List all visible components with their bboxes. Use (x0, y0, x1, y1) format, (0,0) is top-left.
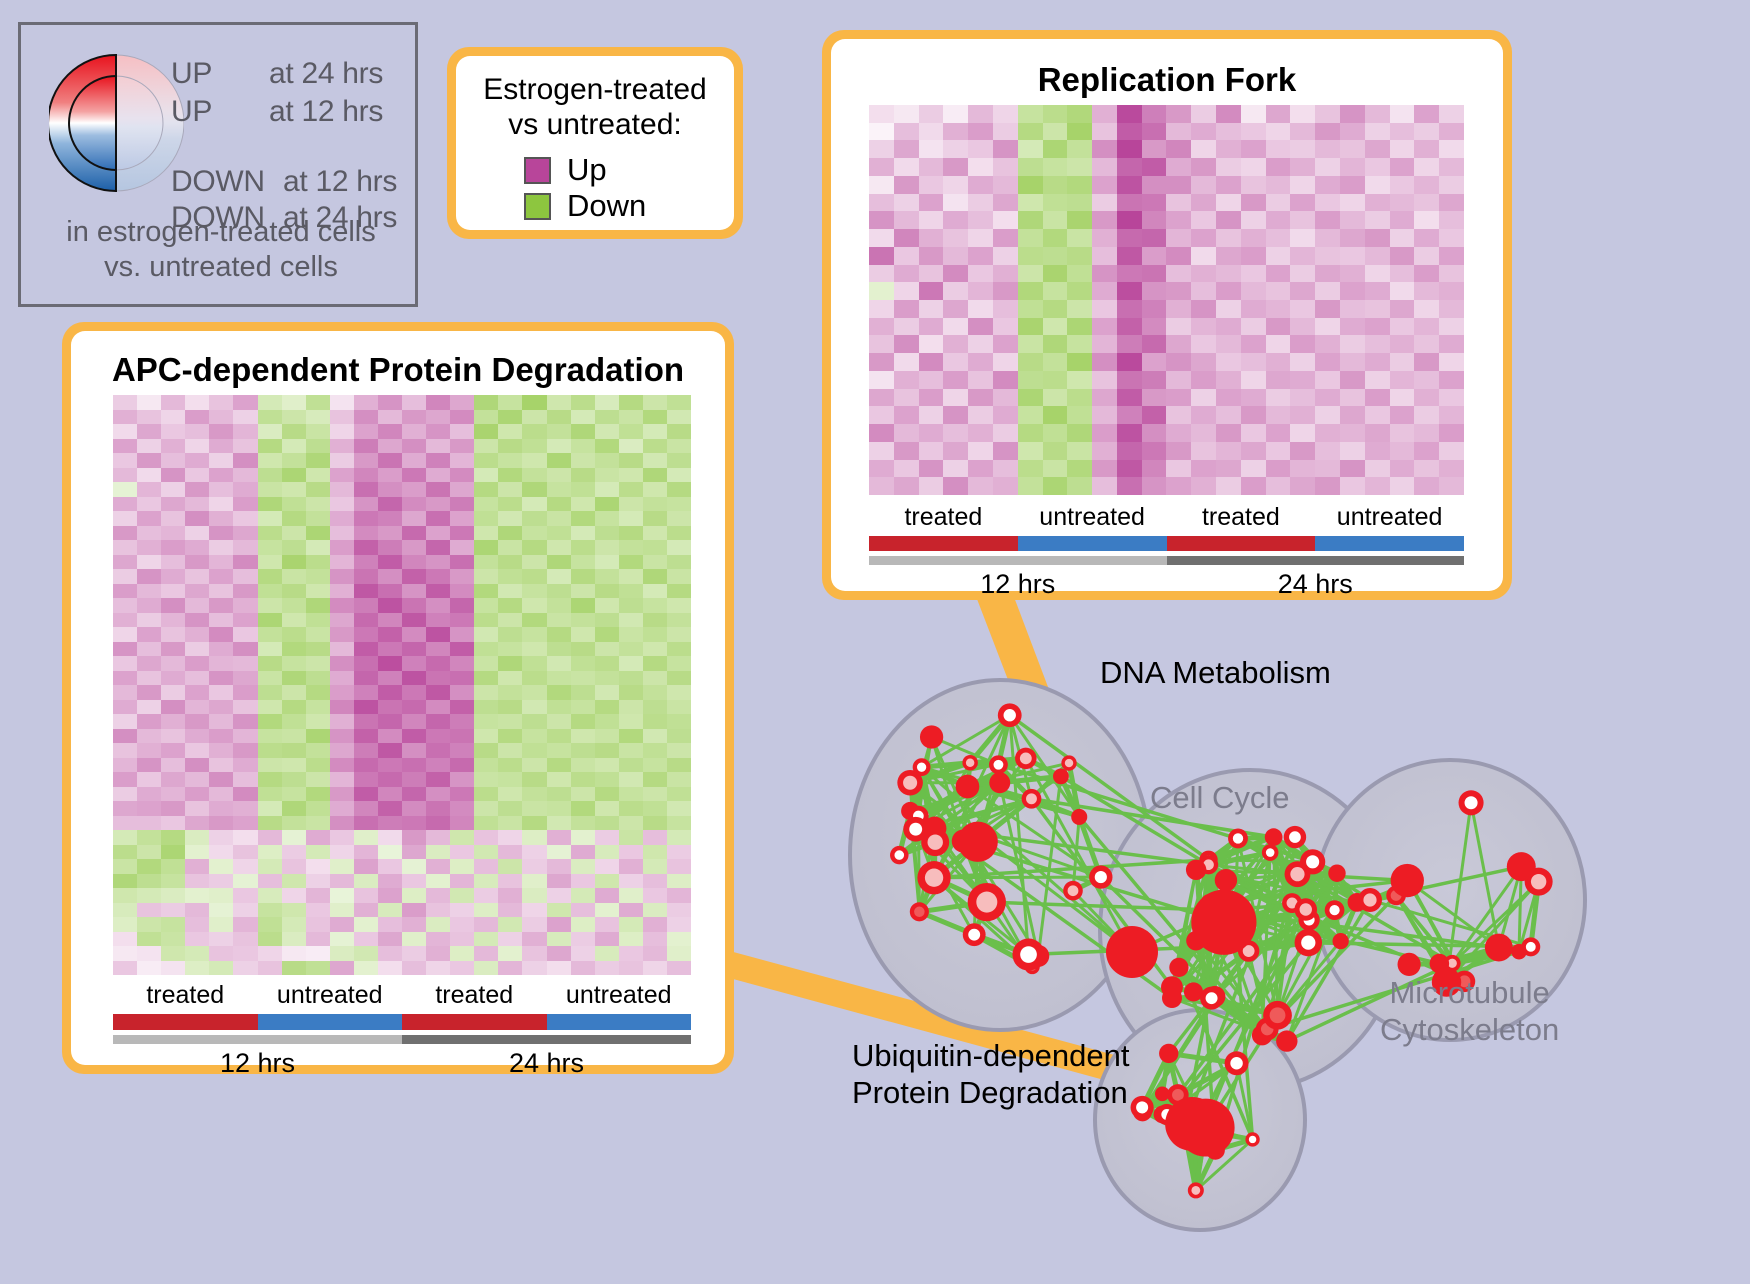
up-down-legend-panel: Estrogen-treated vs untreated: Up Down (447, 47, 743, 239)
heatmap-cell (1439, 158, 1464, 176)
heatmap-cell (233, 424, 257, 439)
heatmap-cell (1414, 424, 1439, 442)
network-node[interactable] (998, 703, 1022, 727)
heatmap-cell (450, 613, 474, 628)
heatmap-cell (498, 497, 522, 512)
heatmap-cell (667, 497, 691, 512)
heatmap-cell (426, 627, 450, 642)
heatmap-cell (282, 482, 306, 497)
heatmap-cell (919, 406, 944, 424)
heatmap-cell (474, 714, 498, 729)
heatmap-cell (137, 540, 161, 555)
network-node[interactable] (1161, 976, 1183, 998)
heatmap-cell (137, 468, 161, 483)
heatmap-cell (209, 613, 233, 628)
heatmap-cell (282, 816, 306, 831)
heatmap-cell (330, 743, 354, 758)
heatmap-cell (498, 743, 522, 758)
heatmap-cell (1414, 442, 1439, 460)
heatmap-cell (185, 642, 209, 657)
heatmap-cell (943, 353, 968, 371)
heatmap-cell (282, 729, 306, 744)
network-node[interactable] (1325, 900, 1345, 920)
heatmap-cell (1365, 353, 1390, 371)
heatmap-cell (233, 700, 257, 715)
heatmap-cell (378, 671, 402, 686)
heatmap-cell (1365, 105, 1390, 123)
heatmap-cell (137, 439, 161, 454)
heatmap-cell (869, 282, 894, 300)
heatmap-cell (1216, 442, 1241, 460)
heatmap-cell (643, 946, 667, 961)
heatmap-cell (474, 540, 498, 555)
heatmap-cell (1142, 194, 1167, 212)
heatmap-cell (378, 540, 402, 555)
heatmap-cell (426, 859, 450, 874)
heatmap-cell (282, 395, 306, 410)
heatmap-cell (498, 598, 522, 613)
heatmap-cell (1315, 318, 1340, 336)
heatmap-replication-fork-time-labels: 12 hrs24 hrs (869, 569, 1464, 600)
network-node[interactable] (1015, 748, 1036, 769)
heatmap-cell (1117, 194, 1142, 212)
heatmap-cell (426, 395, 450, 410)
heatmap-cell (161, 772, 185, 787)
heatmap-cell (869, 229, 894, 247)
heatmap-cell (306, 932, 330, 947)
heatmap-cell (1439, 353, 1464, 371)
heatmap-cell (1315, 335, 1340, 353)
network-node[interactable] (1459, 790, 1484, 815)
network-node[interactable] (1521, 937, 1540, 956)
heatmap-cell (595, 816, 619, 831)
heatmap-cell (595, 395, 619, 410)
network-node[interactable] (1228, 829, 1248, 849)
heatmap-cell (258, 497, 282, 512)
heatmap-cell (571, 787, 595, 802)
heatmap-cell (1315, 424, 1340, 442)
network-node[interactable] (1089, 865, 1112, 888)
heatmap-cell (137, 700, 161, 715)
heatmap-cell (1142, 460, 1167, 478)
heatmap-cell (667, 772, 691, 787)
heatmap-cell (1142, 176, 1167, 194)
heatmap-cell (498, 845, 522, 860)
heatmap-cell (378, 932, 402, 947)
heatmap-cell (547, 816, 571, 831)
heatmap-cell (943, 300, 968, 318)
network-node[interactable] (1262, 844, 1279, 861)
up-down-legend-title-line1: Estrogen-treated (456, 72, 734, 107)
heatmap-cell (450, 598, 474, 613)
heatmap-cell (402, 613, 426, 628)
heatmap-cell (1142, 282, 1167, 300)
heatmap-cell (474, 758, 498, 773)
network-node[interactable] (1063, 881, 1083, 901)
heatmap-cell (113, 772, 137, 787)
heatmap-cell (282, 859, 306, 874)
heatmap-cell (595, 932, 619, 947)
heatmap-cell (426, 656, 450, 671)
network-node[interactable] (1328, 865, 1345, 882)
network-node[interactable] (1169, 958, 1188, 977)
heatmap-cell (306, 772, 330, 787)
heatmap-cell (643, 497, 667, 512)
heatmap-cell (113, 482, 137, 497)
heatmap-cell (1216, 353, 1241, 371)
heatmap-cell (450, 656, 474, 671)
heatmap-cell (619, 700, 643, 715)
heatmap-cell (330, 627, 354, 642)
network-node[interactable] (890, 846, 908, 864)
heatmap-cell (1315, 477, 1340, 495)
heatmap-cell (161, 584, 185, 599)
heatmap-cell (378, 758, 402, 773)
heatmap-cell (306, 700, 330, 715)
heatmap-cell (233, 613, 257, 628)
network-node[interactable] (910, 902, 929, 921)
heatmap-cell (354, 453, 378, 468)
heatmap-cell (547, 453, 571, 468)
heatmap-cell (378, 627, 402, 642)
heatmap-cell (1067, 105, 1092, 123)
heatmap-cell (943, 176, 968, 194)
heatmap-cell (1191, 371, 1216, 389)
network-node[interactable] (1177, 1099, 1235, 1157)
heatmap-cell (1365, 318, 1390, 336)
heatmap-cell (1092, 194, 1117, 212)
heatmap-cell (137, 787, 161, 802)
condition-label: treated (869, 503, 1018, 532)
heatmap-cell (894, 353, 919, 371)
heatmap-cell (547, 685, 571, 700)
heatmap-cell (993, 211, 1018, 229)
heatmap-cell (185, 801, 209, 816)
heatmap-cell (209, 932, 233, 947)
network-node[interactable] (1263, 1001, 1292, 1030)
heatmap-cell (137, 511, 161, 526)
network-node[interactable] (1358, 888, 1382, 912)
network-node[interactable] (1398, 953, 1421, 976)
heatmap-cell (498, 482, 522, 497)
heatmap-cell (258, 946, 282, 961)
heatmap-apc-degradation-condition-bar (113, 1014, 691, 1030)
heatmap-cell (402, 395, 426, 410)
heatmap-cell (619, 468, 643, 483)
heatmap-cell (113, 729, 137, 744)
heatmap-cell (233, 946, 257, 961)
heatmap-cell (282, 787, 306, 802)
heatmap-cell (185, 758, 209, 773)
heatmap-cell (450, 685, 474, 700)
heatmap-cell (185, 685, 209, 700)
heatmap-cell (474, 598, 498, 613)
heatmap-cell (571, 482, 595, 497)
heatmap-cell (1266, 282, 1291, 300)
heatmap-cell (113, 395, 137, 410)
heatmap-cell (1191, 229, 1216, 247)
heatmap-cell (1018, 318, 1043, 336)
heatmap-cell (426, 584, 450, 599)
network-node[interactable] (921, 828, 949, 856)
heatmap-cell (1191, 176, 1216, 194)
legend-item-up-label: Up (567, 152, 607, 188)
heatmap-cell (894, 105, 919, 123)
heatmap-apc-degradation-time-labels: 12 hrs24 hrs (113, 1048, 691, 1079)
network-node[interactable] (1159, 1044, 1178, 1063)
heatmap-cell (547, 671, 571, 686)
heatmap-cell (667, 932, 691, 947)
heatmap-cell (330, 540, 354, 555)
network-node[interactable] (1191, 890, 1256, 955)
heatmap-cell (330, 569, 354, 584)
heatmap-cell (1216, 229, 1241, 247)
heatmap-cell (378, 714, 402, 729)
heatmap-cell (474, 932, 498, 947)
heatmap-cell (619, 758, 643, 773)
heatmap-cell (1290, 123, 1315, 141)
heatmap-cell (402, 671, 426, 686)
heatmap-cell (258, 743, 282, 758)
network-node[interactable] (1186, 860, 1206, 880)
network-node[interactable] (1295, 929, 1322, 956)
heatmap-cell (1067, 282, 1092, 300)
network-node[interactable] (1294, 898, 1317, 921)
heatmap-cell (894, 389, 919, 407)
network-node[interactable] (958, 822, 998, 862)
heatmap-cell (1018, 247, 1043, 265)
heatmap-cell (619, 859, 643, 874)
heatmap-cell (233, 526, 257, 541)
heatmap-cell (161, 816, 185, 831)
heatmap-cell (1266, 477, 1291, 495)
heatmap-cell (1216, 123, 1241, 141)
heatmap-cell (968, 406, 993, 424)
heatmap-cell (1142, 406, 1167, 424)
heatmap-cell (113, 946, 137, 961)
heatmap-cell (426, 511, 450, 526)
network-node[interactable] (968, 883, 1006, 921)
heatmap-cell (1043, 424, 1068, 442)
heatmap-cell (1290, 282, 1315, 300)
heatmap-cell (1290, 247, 1315, 265)
network-node[interactable] (1053, 768, 1069, 784)
heatmap-cell (643, 526, 667, 541)
heatmap-cell (547, 569, 571, 584)
heatmap-cell (571, 526, 595, 541)
heatmap-cell (1340, 194, 1365, 212)
heatmap-cell (354, 917, 378, 932)
network-node[interactable] (897, 770, 923, 796)
network-node[interactable] (1485, 934, 1513, 962)
heatmap-cell (571, 656, 595, 671)
heatmap-cell (1266, 265, 1291, 283)
heatmap-cell (1290, 105, 1315, 123)
heatmap-cell (1340, 282, 1365, 300)
heatmap-cell (354, 888, 378, 903)
heatmap-cell (643, 714, 667, 729)
network-node[interactable] (963, 923, 986, 946)
heatmap-cell (919, 194, 944, 212)
heatmap-cell (1439, 194, 1464, 212)
heatmap-cell (426, 874, 450, 889)
heatmap-cell (1117, 389, 1142, 407)
network-node[interactable] (1284, 826, 1306, 848)
heatmap-cell (1390, 229, 1415, 247)
heatmap-cell (1191, 353, 1216, 371)
network-node[interactable] (1131, 1096, 1154, 1119)
condition-color-segment (547, 1014, 692, 1030)
heatmap-cell (354, 903, 378, 918)
condition-label: untreated (1315, 503, 1464, 532)
heatmap-cell (522, 714, 546, 729)
heatmap-cell (522, 859, 546, 874)
heatmap-cell (619, 714, 643, 729)
heatmap-cell (1414, 300, 1439, 318)
heatmap-cell (1216, 158, 1241, 176)
heatmap-cell (1043, 229, 1068, 247)
heatmap-cell (667, 468, 691, 483)
heatmap-cell (233, 932, 257, 947)
heatmap-cell (209, 671, 233, 686)
network-node[interactable] (1061, 755, 1076, 770)
network-node[interactable] (1215, 869, 1237, 891)
heatmap-cell (426, 453, 450, 468)
heatmap-cell (185, 526, 209, 541)
heatmap-cell (522, 598, 546, 613)
heatmap-cell (667, 946, 691, 961)
heatmap-cell (137, 569, 161, 584)
heatmap-cell (547, 845, 571, 860)
heatmap-cell (869, 194, 894, 212)
heatmap-cell (869, 176, 894, 194)
heatmap-cell (547, 787, 571, 802)
heatmap-cell (1365, 229, 1390, 247)
heatmap-cell (1092, 211, 1117, 229)
network-node[interactable] (1265, 828, 1283, 846)
network-node[interactable] (1391, 864, 1424, 897)
heatmap-cell (282, 932, 306, 947)
heatmap-cell (919, 300, 944, 318)
network-node[interactable] (989, 772, 1010, 793)
network-node[interactable] (1022, 789, 1042, 809)
heatmap-cell (1142, 300, 1167, 318)
heatmap-cell (993, 477, 1018, 495)
heatmap-cell (209, 598, 233, 613)
heatmap-cell (1216, 247, 1241, 265)
heatmap-cell (643, 410, 667, 425)
heatmap-cell (474, 656, 498, 671)
network-node[interactable] (1188, 1182, 1204, 1198)
heatmap-cell (282, 758, 306, 773)
heatmap-cell (378, 453, 402, 468)
heatmap-cell (498, 656, 522, 671)
network-node[interactable] (1200, 987, 1223, 1010)
heatmap-cell (113, 497, 137, 512)
heatmap-cell (968, 265, 993, 283)
heatmap-cell (547, 859, 571, 874)
heatmap-cell (1241, 353, 1266, 371)
heatmap-cell (354, 845, 378, 860)
heatmap-cell (894, 176, 919, 194)
heatmap-cell (185, 424, 209, 439)
network-node[interactable] (920, 725, 943, 748)
heatmap-cell (1043, 194, 1068, 212)
heatmap-cell (643, 598, 667, 613)
network-node[interactable] (956, 775, 980, 799)
network-node[interactable] (1285, 861, 1311, 887)
heatmap-cell (547, 439, 571, 454)
heatmap-cell (968, 105, 993, 123)
heatmap-cell (450, 468, 474, 483)
heatmap-cell (113, 642, 137, 657)
heatmap-cell (209, 642, 233, 657)
heatmap-cell (474, 671, 498, 686)
heatmap-cell (643, 656, 667, 671)
heatmap-cell (113, 468, 137, 483)
heatmap-cell (282, 700, 306, 715)
network-node[interactable] (1507, 852, 1536, 881)
heatmap-cell (282, 642, 306, 657)
heatmap-cell (1142, 335, 1167, 353)
heatmap-cell (185, 468, 209, 483)
heatmap-cell (1340, 406, 1365, 424)
heatmap-cell (943, 158, 968, 176)
heatmap-cell (522, 903, 546, 918)
heatmap-cell (619, 613, 643, 628)
heatmap-cell (1365, 442, 1390, 460)
heatmap-cell (1365, 282, 1390, 300)
network-node[interactable] (1276, 1030, 1297, 1051)
heatmap-cell (1067, 123, 1092, 141)
condition-label: untreated (258, 981, 403, 1010)
heatmap-cell (522, 526, 546, 541)
heatmap-cell (1290, 318, 1315, 336)
network-node[interactable] (1245, 1132, 1259, 1146)
heatmap-cell (1043, 477, 1068, 495)
network-node[interactable] (1332, 933, 1348, 949)
heatmap-cell (968, 247, 993, 265)
heatmap-cell (1166, 442, 1191, 460)
network-node[interactable] (1071, 809, 1087, 825)
heatmap-cell (894, 158, 919, 176)
heatmap-cell (113, 888, 137, 903)
heatmap-cell (233, 772, 257, 787)
heatmap-cell (571, 540, 595, 555)
heatmap-cell (571, 758, 595, 773)
heatmap-cell (1043, 389, 1068, 407)
network-node[interactable] (1225, 1051, 1249, 1075)
cluster-label-ubiquitin: Ubiquitin-dependent Protein Degradation (852, 1038, 1130, 1111)
network-node[interactable] (917, 861, 950, 894)
heatmap-cell (1018, 442, 1043, 460)
heatmap-cell (869, 460, 894, 478)
heatmap-cell (378, 685, 402, 700)
network-node[interactable] (962, 755, 977, 770)
heatmap-cell (209, 729, 233, 744)
heatmap-cell (595, 627, 619, 642)
heatmap-cell (919, 140, 944, 158)
network-node[interactable] (1012, 938, 1044, 970)
network-node[interactable] (1106, 926, 1158, 978)
heatmap-cell (643, 685, 667, 700)
heatmap-cell (161, 845, 185, 860)
heatmap-cell (498, 932, 522, 947)
heatmap-cell (498, 627, 522, 642)
heatmap-cell (993, 123, 1018, 141)
ring-legend-footer-line1: in estrogen-treated cells (21, 215, 421, 250)
network-node[interactable] (989, 755, 1008, 774)
